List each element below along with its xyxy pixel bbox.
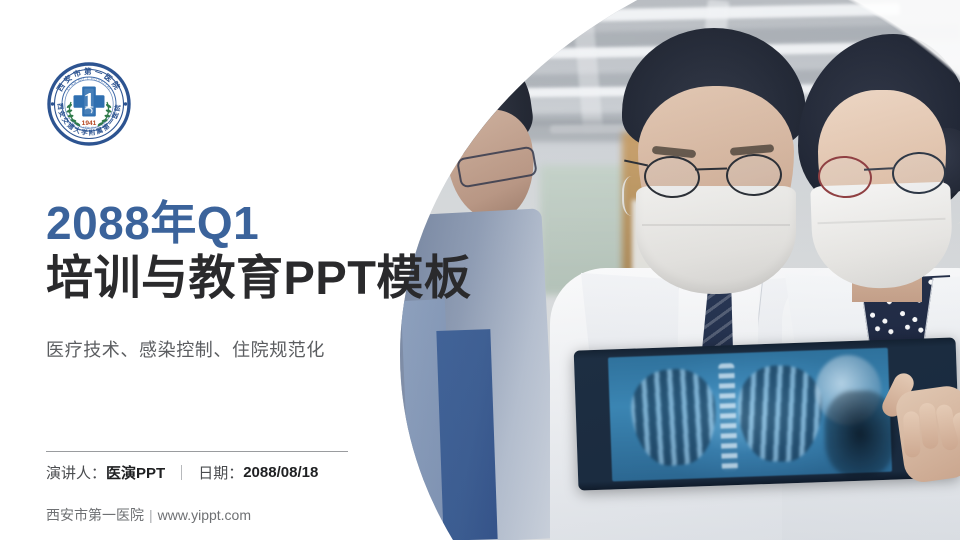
footer: 西安市第一医院|www.yippt.com bbox=[46, 505, 251, 525]
divider bbox=[46, 451, 348, 452]
svg-text:1941: 1941 bbox=[82, 120, 97, 127]
cover-photo-panel bbox=[400, 0, 960, 540]
footer-separator: | bbox=[149, 507, 153, 523]
xray-lung-right bbox=[737, 365, 823, 462]
presenter-label: 演讲人： bbox=[46, 462, 106, 483]
date-value: 2088/08/18 bbox=[243, 464, 318, 481]
cover-photo bbox=[400, 0, 960, 540]
mask-earloop bbox=[622, 176, 646, 216]
meta-separator bbox=[181, 465, 182, 480]
finger bbox=[903, 411, 921, 458]
presentation-slide: 西安市第一医院 XI'AN NO.1 HOSPITAL 西安交通大学附属第一医院… bbox=[0, 0, 960, 540]
foreground-blue-band bbox=[436, 329, 497, 540]
xray-spine bbox=[718, 363, 738, 471]
footer-organization: 西安市第一医院 bbox=[46, 507, 144, 523]
footer-website[interactable]: www.yippt.com bbox=[158, 507, 251, 523]
xray-lung-left bbox=[628, 366, 720, 469]
hospital-crest-logo: 西安市第一医院 XI'AN NO.1 HOSPITAL 西安交通大学附属第一医院… bbox=[47, 62, 131, 146]
presenter-meta: 演讲人：医演PPT 日期：2088/08/18 bbox=[46, 462, 318, 483]
title-line-main: 培训与教育PPT模板 bbox=[46, 250, 471, 306]
title-line-year: 2088年Q1 bbox=[46, 196, 471, 250]
xray-image bbox=[608, 348, 892, 482]
date-label: 日期： bbox=[198, 462, 243, 483]
presenter-value: 医演PPT bbox=[106, 462, 165, 483]
page-title: 2088年Q1 培训与教育PPT模板 bbox=[46, 196, 471, 306]
subtitle: 医疗技术、感染控制、住院规范化 bbox=[46, 336, 325, 362]
